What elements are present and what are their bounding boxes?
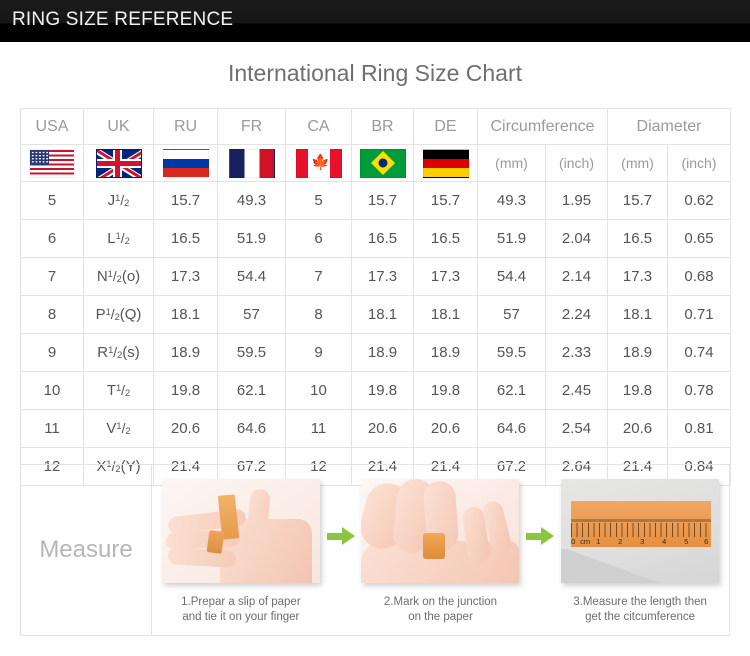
table-row: 8 P1/2(Q) 18.1 57 8 18.1 18.1 57 2.24 18…	[21, 296, 731, 334]
cell-br: 20.6	[352, 410, 414, 448]
cell-uk: J1/2	[84, 182, 154, 220]
table-row: 7 N1/2(o) 17.3 54.4 7 17.3 17.3 54.4 2.1…	[21, 258, 731, 296]
cell-ca: 9	[286, 334, 352, 372]
header-br: BR	[352, 109, 414, 145]
flag-russia-icon	[163, 149, 209, 178]
step3-line2: get the citcumference	[573, 610, 707, 625]
cell-uk: P1/2(Q)	[84, 296, 154, 334]
cell-uk: V1/2	[84, 410, 154, 448]
cell-circ-inch: 2.33	[546, 334, 608, 372]
header-ru: RU	[154, 109, 218, 145]
ruler-mark-cm: cm	[580, 537, 590, 546]
cell-de: 16.5	[414, 220, 478, 258]
cell-br: 18.1	[352, 296, 414, 334]
cell-br: 15.7	[352, 182, 414, 220]
step2-line1: 2.Mark on the junction	[384, 595, 497, 610]
flag-brazil-icon	[360, 149, 406, 178]
cell-fr: 59.5	[218, 334, 286, 372]
flag-cell-ru	[154, 145, 218, 182]
ruler-mark-1: 1	[596, 537, 600, 546]
cell-ca: 10	[286, 372, 352, 410]
cell-usa: 6	[21, 220, 84, 258]
cell-br: 19.8	[352, 372, 414, 410]
measure-step-3-caption: 3.Measure the length then get the citcum…	[573, 595, 707, 625]
header-fr: FR	[218, 109, 286, 145]
cell-de: 20.6	[414, 410, 478, 448]
flag-cell-uk	[84, 145, 154, 182]
cell-ru: 17.3	[154, 258, 218, 296]
step3-line1: 3.Measure the length then	[573, 595, 707, 610]
cell-uk: N1/2(o)	[84, 258, 154, 296]
measure-steps: 1.Prepar a slip of paper and tie it on y…	[152, 465, 729, 635]
unit-circumference-mm: (mm)	[478, 145, 546, 182]
cell-circ-mm: 59.5	[478, 334, 546, 372]
cell-diam-inch: 0.81	[668, 410, 731, 448]
header-de: DE	[414, 109, 478, 145]
cell-diam-mm: 20.6	[608, 410, 668, 448]
ruler-mark-5: 5	[684, 537, 688, 546]
page-title: International Ring Size Chart	[0, 60, 750, 87]
flag-germany-icon	[423, 149, 469, 178]
cell-de: 18.9	[414, 334, 478, 372]
table-row: 9 R1/2(s) 18.9 59.5 9 18.9 18.9 59.5 2.3…	[21, 334, 731, 372]
cell-ca: 6	[286, 220, 352, 258]
cell-circ-mm: 51.9	[478, 220, 546, 258]
cell-diam-mm: 18.1	[608, 296, 668, 334]
cell-diam-mm: 19.8	[608, 372, 668, 410]
measure-section: Measure 1.Prepar a slip of paper and tie…	[20, 464, 730, 636]
cell-circ-mm: 54.4	[478, 258, 546, 296]
step1-line2: and tie it on your finger	[181, 610, 301, 625]
flag-france-icon	[229, 149, 275, 178]
ruler-measuring-photo: 0 cm 1 2 3 4 5 6	[561, 479, 719, 583]
cell-diam-inch: 0.71	[668, 296, 731, 334]
table-header-row-flags: 🍁 (mm) (inch) (mm) (inch)	[21, 145, 731, 182]
cell-usa: 9	[21, 334, 84, 372]
cell-uk: T1/2	[84, 372, 154, 410]
cell-diam-inch: 0.62	[668, 182, 731, 220]
flag-cell-ca: 🍁	[286, 145, 352, 182]
cell-ru: 15.7	[154, 182, 218, 220]
flag-cell-de	[414, 145, 478, 182]
uk-size-4: R1/2(s)	[97, 344, 140, 361]
cell-usa: 11	[21, 410, 84, 448]
table-header-row-countries: USA UK RU FR CA BR DE Circumference Diam…	[21, 109, 731, 145]
cell-diam-mm: 16.5	[608, 220, 668, 258]
uk-size-2: N1/2(o)	[97, 268, 140, 285]
cell-circ-inch: 2.45	[546, 372, 608, 410]
cell-fr: 64.6	[218, 410, 286, 448]
cell-ru: 18.1	[154, 296, 218, 334]
measure-step-2-caption: 2.Mark on the junction on the paper	[384, 595, 497, 625]
ruler-mark-4: 4	[662, 537, 666, 546]
banner-title: RING SIZE REFERENCE	[12, 9, 233, 31]
measure-step-2: 2.Mark on the junction on the paper	[360, 479, 520, 625]
cell-ru: 18.9	[154, 334, 218, 372]
cell-circ-inch: 2.04	[546, 220, 608, 258]
cell-de: 18.1	[414, 296, 478, 334]
cell-diam-mm: 18.9	[608, 334, 668, 372]
cell-br: 18.9	[352, 334, 414, 372]
uk-size-1: L1/2	[107, 230, 130, 247]
uk-size-6: V1/2	[106, 420, 130, 437]
ring-size-reference-page: RING SIZE REFERENCE International Ring S…	[0, 0, 750, 656]
step2-line2: on the paper	[384, 610, 497, 625]
arrow-right-icon-2	[526, 527, 554, 545]
cell-ca: 8	[286, 296, 352, 334]
cell-fr: 49.3	[218, 182, 286, 220]
flag-canada-icon: 🍁	[296, 149, 342, 178]
flag-usa-icon	[29, 149, 75, 178]
cell-de: 17.3	[414, 258, 478, 296]
measure-label-cell: Measure	[21, 465, 152, 635]
header-ca: CA	[286, 109, 352, 145]
step1-line1: 1.Prepar a slip of paper	[181, 595, 301, 610]
cell-circ-inch: 1.95	[546, 182, 608, 220]
cell-ru: 16.5	[154, 220, 218, 258]
arrow-right-icon-1	[327, 527, 355, 545]
uk-size-5: T1/2	[107, 382, 130, 399]
cell-circ-mm: 49.3	[478, 182, 546, 220]
measure-step-1-caption: 1.Prepar a slip of paper and tie it on y…	[181, 595, 301, 625]
cell-circ-inch: 2.24	[546, 296, 608, 334]
cell-fr: 57	[218, 296, 286, 334]
ruler-scale: 0 cm 1 2 3 4 5 6	[571, 537, 711, 549]
cell-uk: L1/2	[84, 220, 154, 258]
uk-size-0: J1/2	[108, 192, 130, 209]
cell-circ-inch: 2.14	[546, 258, 608, 296]
cell-usa: 10	[21, 372, 84, 410]
flag-cell-br	[352, 145, 414, 182]
cell-fr: 51.9	[218, 220, 286, 258]
cell-circ-inch: 2.54	[546, 410, 608, 448]
cell-ca: 11	[286, 410, 352, 448]
cell-diam-inch: 0.68	[668, 258, 731, 296]
header-circumference: Circumference	[478, 109, 608, 145]
cell-circ-mm: 57	[478, 296, 546, 334]
table-row: 10 T1/2 19.8 62.1 10 19.8 19.8 62.1 2.45…	[21, 372, 731, 410]
cell-diam-inch: 0.78	[668, 372, 731, 410]
cell-diam-mm: 17.3	[608, 258, 668, 296]
table-row: 11 V1/2 20.6 64.6 11 20.6 20.6 64.6 2.54…	[21, 410, 731, 448]
cell-diam-inch: 0.74	[668, 334, 731, 372]
cell-ca: 5	[286, 182, 352, 220]
ruler-mark-6: 6	[704, 537, 708, 546]
marking-junction-photo	[361, 479, 519, 583]
cell-usa: 7	[21, 258, 84, 296]
cell-circ-mm: 64.6	[478, 410, 546, 448]
cell-circ-mm: 62.1	[478, 372, 546, 410]
measure-step-3: 0 cm 1 2 3 4 5 6 3.Measure the length th…	[560, 479, 720, 625]
cell-ru: 19.8	[154, 372, 218, 410]
measure-step-1: 1.Prepar a slip of paper and tie it on y…	[161, 479, 321, 625]
ring-size-table: USA UK RU FR CA BR DE Circumference Diam…	[20, 108, 731, 486]
cell-br: 16.5	[352, 220, 414, 258]
header-usa: USA	[21, 109, 84, 145]
cell-de: 19.8	[414, 372, 478, 410]
unit-circumference-inch: (inch)	[546, 145, 608, 182]
cell-de: 15.7	[414, 182, 478, 220]
cell-fr: 54.4	[218, 258, 286, 296]
flag-uk-icon	[96, 149, 142, 178]
top-banner: RING SIZE REFERENCE	[0, 0, 750, 42]
cell-uk: R1/2(s)	[84, 334, 154, 372]
table-row: 5 J1/2 15.7 49.3 5 15.7 15.7 49.3 1.95 1…	[21, 182, 731, 220]
flag-cell-fr	[218, 145, 286, 182]
size-table-wrapper: USA UK RU FR CA BR DE Circumference Diam…	[20, 108, 730, 486]
ruler-mark-2: 2	[618, 537, 622, 546]
table-row: 6 L1/2 16.5 51.9 6 16.5 16.5 51.9 2.04 1…	[21, 220, 731, 258]
ruler-mark-3: 3	[640, 537, 644, 546]
cell-fr: 62.1	[218, 372, 286, 410]
unit-diameter-inch: (inch)	[668, 145, 731, 182]
cell-ru: 20.6	[154, 410, 218, 448]
cell-ca: 7	[286, 258, 352, 296]
cell-br: 17.3	[352, 258, 414, 296]
hand-with-paper-strip-photo	[162, 479, 320, 583]
ruler-mark-0: 0	[571, 537, 575, 546]
cell-diam-inch: 0.65	[668, 220, 731, 258]
header-uk: UK	[84, 109, 154, 145]
cell-usa: 8	[21, 296, 84, 334]
uk-size-3: P1/2(Q)	[96, 306, 142, 323]
unit-diameter-mm: (mm)	[608, 145, 668, 182]
measure-label: Measure	[39, 536, 132, 564]
cell-usa: 5	[21, 182, 84, 220]
cell-diam-mm: 15.7	[608, 182, 668, 220]
flag-cell-usa	[21, 145, 84, 182]
header-diameter: Diameter	[608, 109, 731, 145]
